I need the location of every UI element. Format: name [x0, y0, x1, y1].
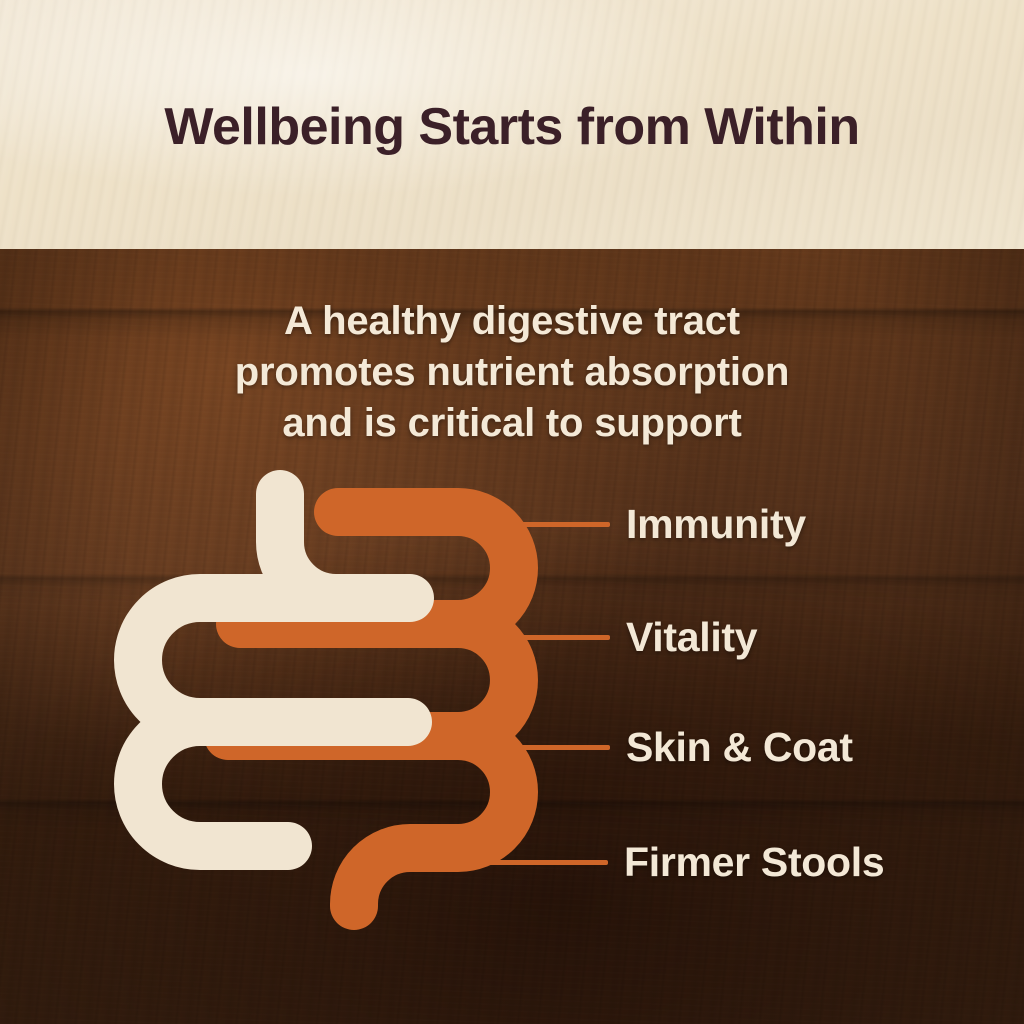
- benefit-item-skin-and-coat: Skin & Coat: [520, 721, 853, 773]
- benefit-label: Vitality: [626, 617, 757, 658]
- benefit-item-firmer-stools: Firmer Stools: [432, 836, 884, 888]
- benefits-list: Immunity Vitality Skin & Coat Firmer Sto…: [420, 490, 1024, 920]
- subheading-line-1: A healthy digestive tract: [0, 296, 1024, 347]
- small-intestine-path-cream: [138, 494, 410, 846]
- page-title: Wellbeing Starts from Within: [164, 101, 859, 153]
- benefit-dash-icon: [510, 635, 610, 640]
- promo-graphic: Wellbeing Starts from Within A healthy d…: [0, 0, 1024, 1024]
- subheading-line-2: promotes nutrient absorption: [0, 347, 1024, 398]
- benefit-label: Skin & Coat: [626, 727, 853, 768]
- benefit-dash-icon: [432, 860, 608, 865]
- benefit-item-immunity: Immunity: [521, 498, 806, 550]
- benefit-item-vitality: Vitality: [510, 611, 757, 663]
- benefit-dash-icon: [520, 745, 610, 750]
- benefit-label: Firmer Stools: [624, 842, 884, 883]
- subheading: A healthy digestive tract promotes nutri…: [0, 296, 1024, 449]
- benefit-label: Immunity: [626, 504, 806, 545]
- benefit-dash-icon: [521, 522, 610, 527]
- header-band: Wellbeing Starts from Within: [0, 0, 1024, 249]
- subheading-line-3: and is critical to support: [0, 398, 1024, 449]
